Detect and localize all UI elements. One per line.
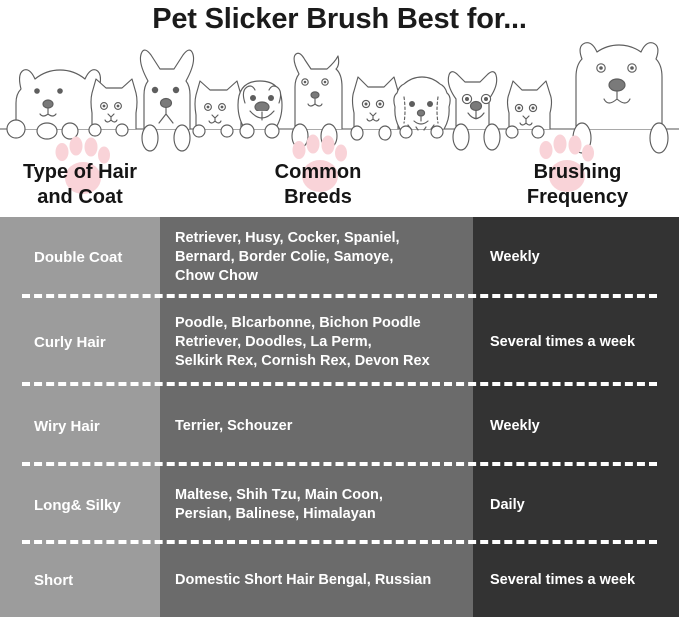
- animal-illustration: [0, 33, 679, 158]
- breeds-line: Retriever, Husy, Cocker, Spaniel,: [175, 229, 400, 248]
- breeds-line: Poodle, Blcarbonne, Bichon Poodle: [175, 314, 430, 333]
- hero-section: Pet Slicker Brush Best for...: [0, 0, 679, 217]
- cell-hair-type: Wiry Hair: [0, 386, 160, 466]
- column-header-frequency-line2: Frequency: [527, 186, 628, 208]
- table-row: Short Domestic Short Hair Bengal, Russia…: [0, 544, 679, 617]
- cell-common-breeds: Retriever, Husy, Cocker, Spaniel, Bernar…: [160, 217, 473, 298]
- breeds-line: Bernard, Border Colie, Samoye,: [175, 248, 400, 267]
- cell-hair-type: Curly Hair: [0, 298, 160, 386]
- column-header-breeds-line2: Breeds: [284, 186, 352, 208]
- cell-brushing-frequency: Weekly: [473, 386, 679, 466]
- cell-common-breeds: Maltese, Shih Tzu, Main Coon, Persian, B…: [160, 466, 473, 544]
- page-title: Pet Slicker Brush Best for...: [0, 2, 679, 36]
- column-header-type: Type of Hair and Coat: [0, 160, 160, 210]
- column-header-breeds-line1: Common: [275, 161, 362, 183]
- column-headers: Type of Hair and Coat Common Breeds Brus…: [0, 160, 679, 217]
- table-row: Double Coat Retriever, Husy, Cocker, Spa…: [0, 217, 679, 298]
- table-row: Wiry Hair Terrier, Schouzer Weekly: [0, 386, 679, 466]
- breeds-line: Maltese, Shih Tzu, Main Coon,: [175, 486, 383, 505]
- cell-common-breeds: Poodle, Blcarbonne, Bichon Poodle Retrie…: [160, 298, 473, 386]
- column-header-type-line2: and Coat: [37, 186, 123, 208]
- cell-common-breeds: Domestic Short Hair Bengal, Russian: [160, 544, 473, 617]
- cell-brushing-frequency: Weekly: [473, 217, 679, 298]
- cell-hair-type: Double Coat: [0, 217, 160, 298]
- table-row: Curly Hair Poodle, Blcarbonne, Bichon Po…: [0, 298, 679, 386]
- infographic-root: Pet Slicker Brush Best for...: [0, 0, 679, 617]
- column-header-frequency: Brushing Frequency: [476, 160, 679, 210]
- cell-brushing-frequency: Several times a week: [473, 544, 679, 617]
- cell-hair-type: Short: [0, 544, 160, 617]
- cell-common-breeds: Terrier, Schouzer: [160, 386, 473, 466]
- cell-hair-type: Long& Silky: [0, 466, 160, 544]
- column-header-frequency-line1: Brushing: [534, 161, 622, 183]
- breeds-line: Chow Chow: [175, 267, 400, 286]
- column-header-breeds: Common Breeds: [163, 160, 473, 210]
- breeds-line: Terrier, Schouzer: [175, 417, 292, 436]
- breeds-line: Retriever, Doodles, La Perm,: [175, 333, 430, 352]
- column-header-type-line1: Type of Hair: [23, 161, 137, 183]
- breeds-line: Persian, Balinese, Himalayan: [175, 505, 383, 524]
- breeds-line: Selkirk Rex, Cornish Rex, Devon Rex: [175, 352, 430, 371]
- table-row: Long& Silky Maltese, Shih Tzu, Main Coon…: [0, 466, 679, 544]
- breeds-line: Domestic Short Hair Bengal, Russian: [175, 571, 431, 590]
- cell-brushing-frequency: Several times a week: [473, 298, 679, 386]
- cell-brushing-frequency: Daily: [473, 466, 679, 544]
- coat-type-table: Double Coat Retriever, Husy, Cocker, Spa…: [0, 217, 679, 617]
